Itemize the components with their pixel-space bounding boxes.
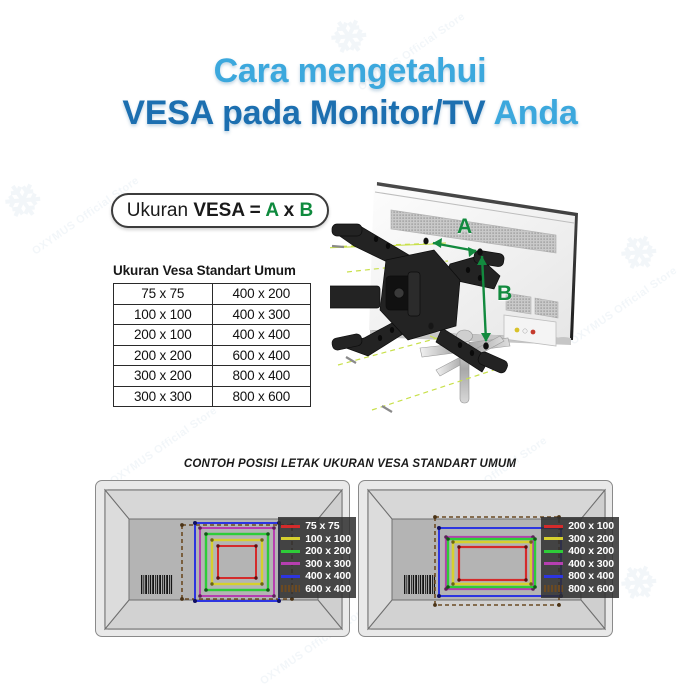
watermark-text: OXYMUS Official Store (108, 404, 219, 487)
legend-label: 400 x 300 (568, 558, 614, 571)
legend-swatch (281, 562, 300, 565)
legend-label: 200 x 100 (568, 520, 614, 533)
table-cell: 300 x 200 (114, 366, 213, 387)
panel-left-legend: 75 x 75 100 x 100 200 x 200 300 x 300 40… (278, 517, 356, 598)
table-body: 75 x 75400 x 200 100 x 100400 x 300 200 … (114, 284, 311, 407)
table-cell: 400 x 400 (212, 325, 311, 346)
table-cell: 75 x 75 (114, 284, 213, 305)
formula-vesa: VESA (193, 200, 244, 221)
legend-item: 300 x 200 (544, 533, 614, 546)
table-row: 100 x 100400 x 300 (114, 304, 311, 325)
formula-equals: = (244, 200, 265, 221)
panel-right-legend: 200 x 100 300 x 200 400 x 200 400 x 300 … (541, 517, 619, 598)
legend-label: 200 x 200 (305, 545, 351, 558)
legend-item: 800 x 600 (544, 583, 614, 596)
legend-swatch (281, 525, 300, 528)
legend-label: 75 x 75 (305, 520, 339, 533)
legend-swatch (281, 575, 300, 578)
legend-label: 400 x 200 (568, 545, 614, 558)
table-cell: 300 x 300 (114, 386, 213, 407)
barcode-decoration (403, 575, 435, 594)
legend-item: 300 x 300 (281, 558, 351, 571)
dimension-label-b: B (497, 282, 512, 306)
legend-swatch (281, 585, 300, 592)
legend-swatch (544, 550, 563, 553)
table-row: 300 x 200800 x 400 (114, 366, 311, 387)
legend-label: 600 x 400 (305, 583, 351, 596)
legend-label: 300 x 200 (568, 533, 614, 546)
legend-label: 300 x 300 (305, 558, 351, 571)
legend-swatch (544, 525, 563, 528)
legend-item: 600 x 400 (281, 583, 351, 596)
vesa-example-panel-square: 75 x 75 100 x 100 200 x 200 300 x 300 40… (95, 480, 350, 637)
formula-a: A (265, 200, 278, 221)
legend-label: 100 x 100 (305, 533, 351, 546)
vesa-size-table: 75 x 75400 x 200 100 x 100400 x 300 200 … (113, 283, 311, 407)
legend-swatch (544, 575, 563, 578)
watermark-mark: ❄ (610, 223, 668, 283)
legend-swatch (281, 550, 300, 553)
vesa-formula-text: Ukuran VESA = A x B (127, 200, 313, 222)
table-cell: 600 x 400 (212, 345, 311, 366)
title-line-2-light: Anda (493, 94, 577, 132)
table-cell: 800 x 400 (212, 366, 311, 387)
bottom-section-caption: CONTOH POSISI LETAK UKURAN VESA STANDART… (0, 458, 700, 470)
table-cell: 200 x 200 (114, 345, 213, 366)
table-cell: 400 x 300 (212, 304, 311, 325)
table-cell: 400 x 200 (212, 284, 311, 305)
legend-swatch (544, 585, 563, 592)
title-line-2: VESA pada Monitor/TV Anda (0, 94, 700, 133)
formula-prefix: Ukuran (127, 200, 194, 221)
table-row: 200 x 100400 x 400 (114, 325, 311, 346)
title-line-1: Cara mengetahui (0, 52, 700, 91)
legend-item: 400 x 400 (281, 570, 351, 583)
table-cell: 100 x 100 (114, 304, 213, 325)
formula-times: x (278, 200, 299, 221)
legend-item: 200 x 100 (544, 520, 614, 533)
legend-item: 400 x 200 (544, 545, 614, 558)
page-title: Cara mengetahui VESA pada Monitor/TV And… (0, 52, 700, 133)
vesa-formula-box: Ukuran VESA = A x B (111, 193, 329, 228)
legend-item: 100 x 100 (281, 533, 351, 546)
monitor-vesa-illustration: A B (330, 160, 595, 425)
legend-item: 800 x 400 (544, 570, 614, 583)
legend-item: 200 x 200 (281, 545, 351, 558)
table-caption: Ukuran Vesa Standart Umum (113, 263, 296, 278)
formula-b: B (299, 200, 313, 221)
legend-swatch (544, 537, 563, 540)
table-cell: 800 x 600 (212, 386, 311, 407)
watermark-mark: ❄ (0, 171, 52, 231)
infographic-page: ❄ OXYMUS Official Store ❄ OXYMUS Officia… (0, 0, 700, 700)
legend-label: 800 x 600 (568, 583, 614, 596)
table-cell: 200 x 100 (114, 325, 213, 346)
legend-label: 400 x 400 (305, 570, 351, 583)
table-row: 300 x 300800 x 600 (114, 386, 311, 407)
table-row: 200 x 200600 x 400 (114, 345, 311, 366)
legend-label: 800 x 400 (568, 570, 614, 583)
legend-swatch (281, 537, 300, 540)
monitor-illustration-svg (330, 160, 595, 425)
legend-item: 75 x 75 (281, 520, 351, 533)
table-row: 75 x 75400 x 200 (114, 284, 311, 305)
dimension-label-a: A (457, 215, 472, 239)
legend-item: 400 x 300 (544, 558, 614, 571)
title-line-2-dark: VESA pada Monitor/TV (122, 94, 485, 132)
barcode-decoration (140, 575, 172, 594)
vesa-example-panel-wide: 200 x 100 300 x 200 400 x 200 400 x 300 … (358, 480, 613, 637)
legend-swatch (544, 562, 563, 565)
